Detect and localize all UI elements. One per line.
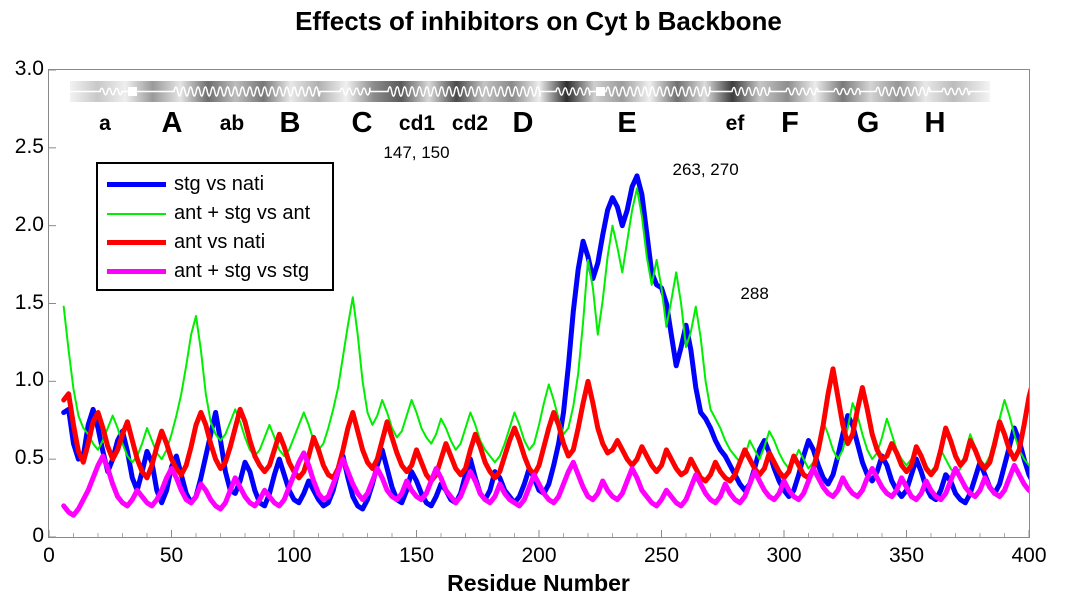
helix-label-E: E (617, 109, 636, 138)
helix-label-D: D (513, 109, 534, 138)
helix-label-F: F (781, 109, 799, 138)
helix-label-G: G (857, 109, 880, 138)
peak-annotation: 288 (740, 284, 768, 304)
x-tick-label: 250 (632, 544, 692, 568)
legend-item[interactable]: ant + stg vs stg (98, 257, 332, 286)
helix-label-C: C (352, 109, 373, 138)
helix-label-H: H (925, 109, 946, 138)
legend-item[interactable]: ant + stg vs ant (98, 199, 332, 228)
legend-color-swatch (107, 240, 166, 245)
helix-label-ab: ab (220, 113, 245, 134)
peak-annotation: 263, 270 (673, 160, 739, 180)
x-tick-label: 300 (754, 544, 814, 568)
x-tick-label: 350 (877, 544, 937, 568)
helix-label-ef: ef (726, 113, 745, 134)
x-tick-label: 400 (999, 544, 1059, 568)
legend-item[interactable]: ant vs nati (98, 228, 332, 257)
x-tick-label: 200 (509, 544, 569, 568)
legend-color-swatch (107, 182, 166, 187)
helix-label-cd1: cd1 (399, 113, 435, 134)
helix-label-A: A (162, 109, 183, 138)
x-tick-label: 50 (142, 544, 202, 568)
legend-label: stg vs nati (174, 173, 264, 196)
legend-label: ant + stg vs ant (174, 202, 310, 225)
y-tick-label: 1.0 (0, 368, 44, 392)
y-tick-label: 0.5 (0, 446, 44, 470)
legend-color-swatch (107, 213, 166, 215)
chart-legend[interactable]: stg vs natiant + stg vs antant vs natian… (96, 162, 334, 291)
x-tick-label: 150 (387, 544, 447, 568)
legend-label: ant + stg vs stg (174, 260, 309, 283)
helix-label-cd2: cd2 (452, 113, 488, 134)
x-tick-label: 100 (264, 544, 324, 568)
plot-area (48, 69, 1030, 538)
x-axis-title: Residue Number (0, 570, 1077, 597)
x-tick-label: 0 (19, 544, 79, 568)
helix-label-B: B (280, 109, 301, 138)
y-tick-label: 1.5 (0, 291, 44, 315)
legend-item[interactable]: stg vs nati (98, 170, 332, 199)
secondary-structure-band (70, 80, 990, 102)
y-tick-label: 2.5 (0, 135, 44, 159)
peak-annotation: 147, 150 (383, 143, 449, 163)
helix-label-a: a (99, 113, 111, 134)
y-tick-label: 2.0 (0, 213, 44, 237)
legend-color-swatch (107, 269, 166, 274)
chart-title: Effects of inhibitors on Cyt b Backbone (0, 6, 1077, 37)
y-tick-label: 3.0 (0, 57, 44, 81)
chart-container: Effects of inhibitors on Cyt b Backbone (0, 0, 1077, 608)
legend-label: ant vs nati (174, 231, 265, 254)
